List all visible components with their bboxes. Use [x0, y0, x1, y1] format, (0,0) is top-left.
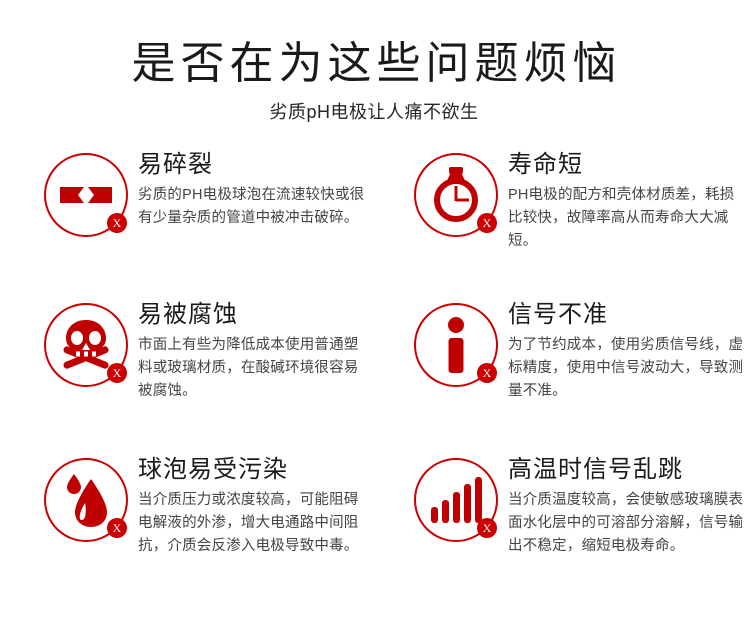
feature-title: 寿命短: [508, 149, 744, 181]
feature-title: 信号不准: [508, 299, 744, 331]
x-badge: X: [477, 518, 497, 538]
feature-icon-wrap: X: [414, 153, 498, 237]
feature-item-signal-accuracy: X 信号不准 为了节约成本，使用劣质信号线，虚标精度，使用中信号波动大，导致测量…: [414, 297, 748, 452]
feature-text: 信号不准 为了节约成本，使用劣质信号线，虚标精度，使用中信号波动大，导致测量不准…: [498, 297, 744, 403]
feature-description: 当介质温度较高，会使敏感玻璃膜表面水化层中的可溶部分溶解，信号输出不稳定，缩短电…: [508, 489, 744, 558]
feature-text: 易被腐蚀 市面上有些为降低成本使用普通塑料或玻璃材质，在酸碱环境很容易被腐蚀。: [128, 297, 370, 403]
page-title: 是否在为这些问题烦恼: [0, 38, 748, 90]
feature-description: 为了节约成本，使用劣质信号线，虚标精度，使用中信号波动大，导致测量不准。: [508, 334, 744, 403]
x-badge: X: [107, 213, 127, 233]
x-badge: X: [477, 363, 497, 383]
feature-icon-wrap: X: [414, 458, 498, 542]
page-subtitle: 劣质pH电极让人痛不欲生: [0, 99, 748, 125]
feature-item-broken: X 易碎裂 劣质的PH电极球泡在流速较快或很有少量杂质的管道中被冲击破碎。: [44, 147, 408, 297]
feature-text: 易碎裂 劣质的PH电极球泡在流速较快或很有少量杂质的管道中被冲击破碎。: [128, 147, 370, 230]
feature-icon-wrap: X: [414, 303, 498, 387]
feature-item-contamination: X 球泡易受污染 当介质压力或浓度较高，可能阻碍电解液的外渗，增大电通路中间阻抗…: [44, 452, 408, 558]
feature-title: 球泡易受污染: [138, 454, 370, 486]
x-badge: X: [107, 518, 127, 538]
feature-icon-wrap: X: [44, 153, 128, 237]
feature-item-lifespan: X 寿命短 PH电极的配方和壳体材质差，耗损比较快，故障率高从而寿命大大减短。: [414, 147, 748, 297]
feature-title: 高温时信号乱跳: [508, 454, 744, 486]
page-header: 是否在为这些问题烦恼 劣质pH电极让人痛不欲生: [0, 0, 748, 125]
feature-title: 易被腐蚀: [138, 299, 370, 331]
feature-title: 易碎裂: [138, 149, 370, 181]
page-root: 是否在为这些问题烦恼 劣质pH电极让人痛不欲生 X 易碎裂 劣质的PH电极球泡在…: [0, 0, 748, 637]
feature-item-corrosion: X 易被腐蚀 市面上有些为降低成本使用普通塑料或玻璃材质，在酸碱环境很容易被腐蚀…: [44, 297, 408, 452]
feature-description: 市面上有些为降低成本使用普通塑料或玻璃材质，在酸碱环境很容易被腐蚀。: [138, 334, 370, 403]
x-badge: X: [107, 363, 127, 383]
feature-item-high-temp: X 高温时信号乱跳 当介质温度较高，会使敏感玻璃膜表面水化层中的可溶部分溶解，信…: [414, 452, 748, 558]
feature-text: 寿命短 PH电极的配方和壳体材质差，耗损比较快，故障率高从而寿命大大减短。: [498, 147, 744, 253]
feature-description: PH电极的配方和壳体材质差，耗损比较快，故障率高从而寿命大大减短。: [508, 184, 744, 253]
feature-text: 球泡易受污染 当介质压力或浓度较高，可能阻碍电解液的外渗，增大电通路中间阻抗，介…: [128, 452, 370, 558]
feature-icon-wrap: X: [44, 303, 128, 387]
x-badge: X: [477, 213, 497, 233]
feature-description: 当介质压力或浓度较高，可能阻碍电解液的外渗，增大电通路中间阻抗，介质会反渗入电极…: [138, 489, 370, 558]
feature-text: 高温时信号乱跳 当介质温度较高，会使敏感玻璃膜表面水化层中的可溶部分溶解，信号输…: [498, 452, 744, 558]
feature-description: 劣质的PH电极球泡在流速较快或很有少量杂质的管道中被冲击破碎。: [138, 184, 370, 230]
feature-icon-wrap: X: [44, 458, 128, 542]
feature-grid: X 易碎裂 劣质的PH电极球泡在流速较快或很有少量杂质的管道中被冲击破碎。: [0, 147, 748, 558]
